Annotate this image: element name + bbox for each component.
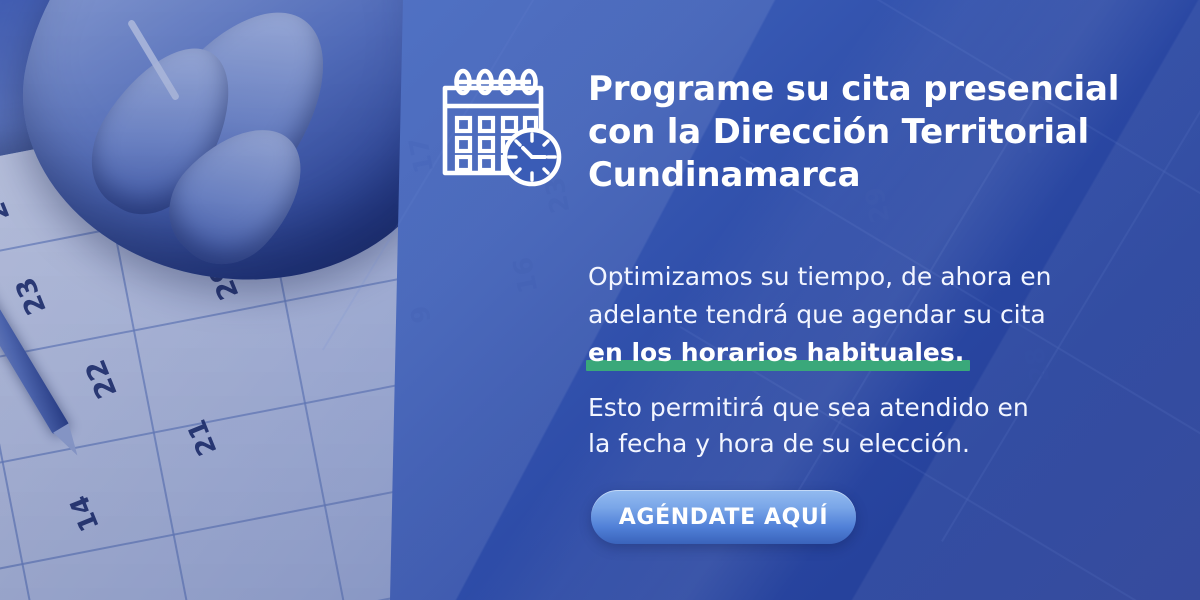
appointment-promo-banner: 24 30 23 16 29 22 15 8 21 14 7 17 9 — [0, 0, 1200, 600]
page-title: Programe su cita presencial con la Direc… — [588, 68, 1140, 197]
paragraph1-line-1: Optimizamos su tiempo, de ahora en — [588, 262, 1051, 291]
calendar-clock-icon — [433, 68, 563, 188]
body-paragraph-2: Esto permitirá que sea atendido en la fe… — [588, 390, 1088, 462]
banner-content: Programe su cita presencial con la Direc… — [588, 0, 1158, 600]
paragraph2-line-2: la fecha y hora de su elección. — [588, 429, 970, 458]
highlighted-phrase: en los horarios habituales. — [588, 334, 964, 372]
body-paragraph-1: Optimizamos su tiempo, de ahora en adela… — [588, 258, 1088, 372]
headline-line-3: Cundinamarca — [588, 155, 860, 195]
paragraph1-line-2: adelante tendrá que agendar su cita — [588, 300, 1046, 329]
highlight-text: en los horarios habituales. — [588, 338, 964, 367]
paragraph2-line-1: Esto permitirá que sea atendido en — [588, 393, 1029, 422]
schedule-appointment-button[interactable]: AGÉNDATE AQUÍ — [591, 490, 856, 544]
headline-line-1: Programe su cita presencial — [588, 69, 1119, 109]
headline-line-2: con la Dirección Territorial — [588, 112, 1089, 152]
